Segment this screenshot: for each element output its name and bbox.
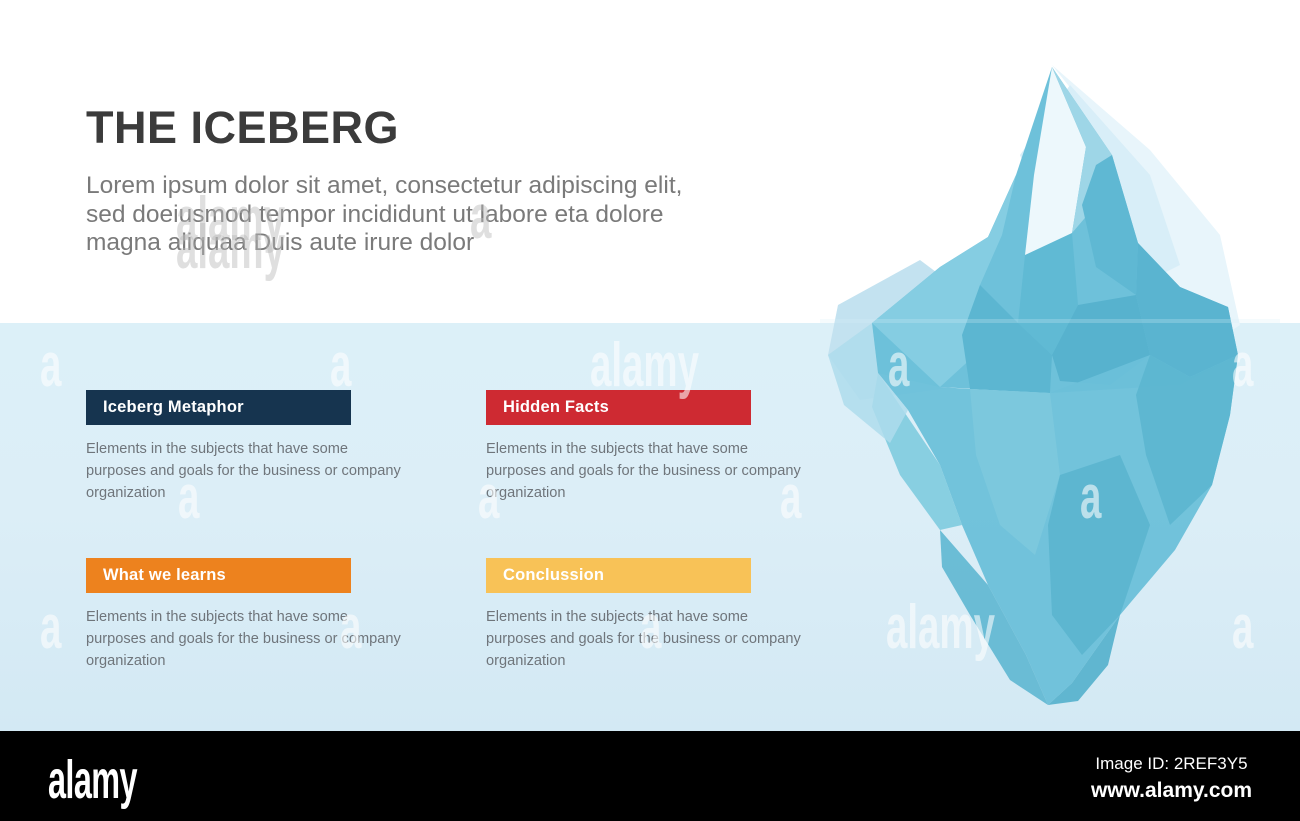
screenshot-root: THE ICEBERG Lorem ipsum dolor sit amet, … [0, 0, 1300, 821]
card-hidden-facts[interactable]: Hidden Facts Elements in the subjects th… [486, 390, 751, 504]
card-iceberg-metaphor[interactable]: Iceberg Metaphor Elements in the subject… [86, 390, 351, 504]
card-body-text: Elements in the subjects that have some … [86, 438, 406, 504]
card-label: What we learns [86, 558, 351, 593]
alamy-url-text: www.alamy.com [1091, 777, 1252, 805]
card-conclussion[interactable]: Conclussion Elements in the subjects tha… [486, 558, 751, 672]
infographic-slide: THE ICEBERG Lorem ipsum dolor sit amet, … [0, 0, 1300, 731]
alamy-logo: alamy [48, 749, 137, 811]
card-body-text: Elements in the subjects that have some … [86, 606, 406, 672]
image-id-text: Image ID: 2REF3Y5 [1091, 753, 1252, 775]
card-label: Iceberg Metaphor [86, 390, 351, 425]
card-what-we-learns[interactable]: What we learns Elements in the subjects … [86, 558, 351, 672]
card-label: Hidden Facts [486, 390, 751, 425]
alamy-footer-bar: alamy Image ID: 2REF3Y5 www.alamy.com [0, 731, 1300, 821]
card-body-text: Elements in the subjects that have some … [486, 606, 806, 672]
card-label: Conclussion [486, 558, 751, 593]
footer-meta: Image ID: 2REF3Y5 www.alamy.com [1091, 753, 1252, 805]
iceberg-illustration [820, 55, 1280, 715]
page-subtitle: Lorem ipsum dolor sit amet, consectetur … [86, 172, 696, 258]
card-body-text: Elements in the subjects that have some … [486, 438, 806, 504]
page-title: THE ICEBERG [86, 104, 399, 151]
